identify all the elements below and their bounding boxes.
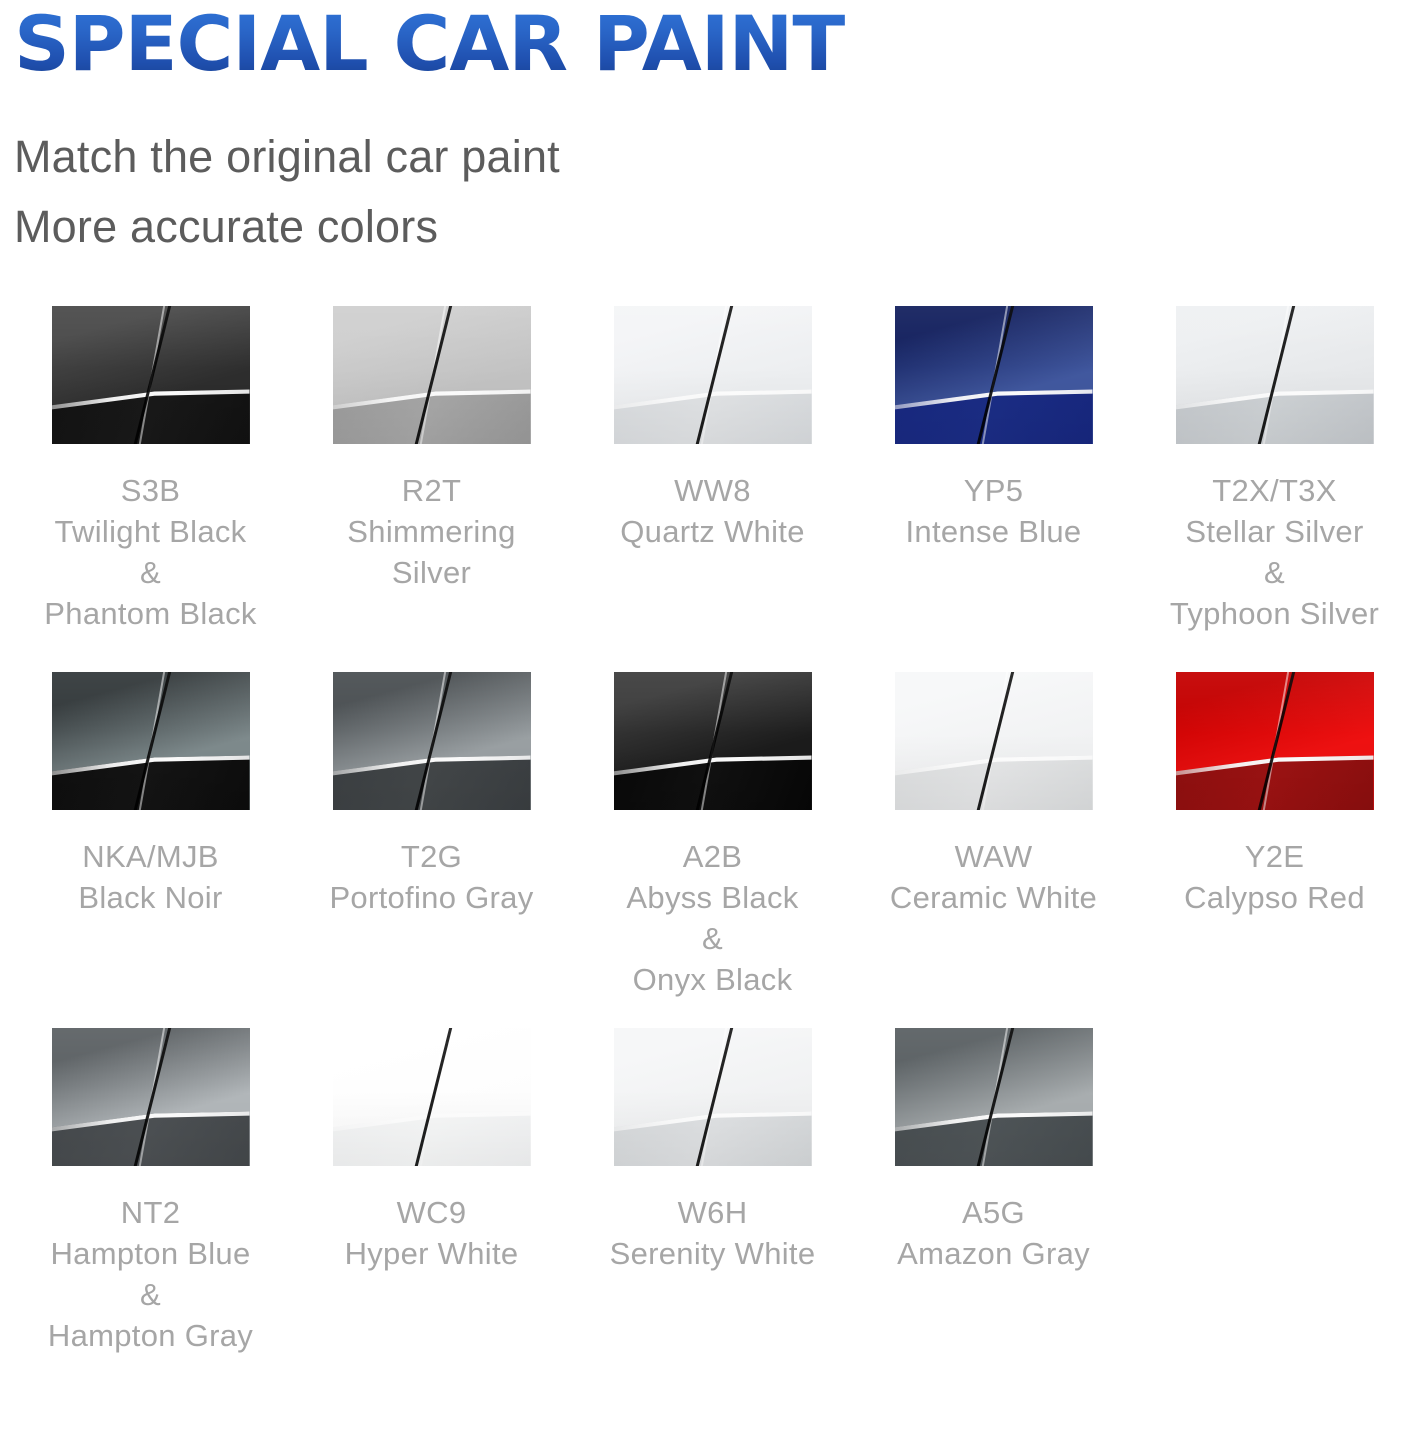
paint-swatch-card[interactable]: T2X/T3XStellar Silver&Typhoon Silver	[1134, 306, 1407, 634]
paint-name: Hampton Blue	[10, 1233, 291, 1274]
paint-swatch-labels: R2TShimmeringSilver	[291, 470, 572, 593]
subtitle-line-2: More accurate colors	[14, 192, 1407, 262]
paint-name-separator: &	[10, 552, 291, 593]
car-panel-swatch-image	[52, 672, 250, 810]
car-panel-swatch-image	[895, 306, 1093, 444]
paint-swatch-card[interactable]: NKA/MJBBlack Noir	[10, 672, 291, 1000]
paint-code: Y2E	[1134, 836, 1407, 877]
paint-swatch-card[interactable]: A5GAmazon Gray	[853, 1028, 1134, 1356]
panel-gap-line	[52, 1028, 250, 1166]
paint-name: Shimmering	[291, 511, 572, 552]
paint-code: W6H	[572, 1192, 853, 1233]
paint-code: R2T	[291, 470, 572, 511]
paint-name-separator: &	[1134, 552, 1407, 593]
car-panel-swatch-image	[1176, 306, 1374, 444]
paint-swatch-grid: S3BTwilight Black&Phantom BlackR2TShimme…	[0, 306, 1407, 1356]
panel-gap-line	[1176, 306, 1374, 444]
paint-swatch-labels: A2BAbyss Black&Onyx Black	[572, 836, 853, 1000]
paint-name: Abyss Black	[572, 877, 853, 918]
paint-code: S3B	[10, 470, 291, 511]
paint-swatch-labels: WAWCeramic White	[853, 836, 1134, 918]
panel-gap-line	[895, 306, 1093, 444]
paint-swatch-labels: S3BTwilight Black&Phantom Black	[10, 470, 291, 634]
paint-swatch-card[interactable]: WW8Quartz White	[572, 306, 853, 634]
paint-name-alt: Onyx Black	[572, 959, 853, 1000]
paint-name-alt: Hampton Gray	[10, 1315, 291, 1356]
panel-gap-line	[614, 1028, 812, 1166]
car-panel-swatch-image	[895, 1028, 1093, 1166]
swatch-row: S3BTwilight Black&Phantom BlackR2TShimme…	[10, 306, 1397, 634]
paint-swatch-labels: A5GAmazon Gray	[853, 1192, 1134, 1274]
paint-code: NKA/MJB	[10, 836, 291, 877]
paint-name: Quartz White	[572, 511, 853, 552]
panel-gap-line	[52, 672, 250, 810]
paint-code: WAW	[853, 836, 1134, 877]
panel-gap-line	[52, 306, 250, 444]
swatch-row: NKA/MJBBlack NoirT2GPortofino GrayA2BAby…	[10, 672, 1397, 1000]
car-panel-swatch-image	[52, 306, 250, 444]
panel-gap-line	[333, 306, 531, 444]
paint-code: YP5	[853, 470, 1134, 511]
paint-name: Stellar Silver	[1134, 511, 1407, 552]
paint-name: Twilight Black	[10, 511, 291, 552]
paint-name: Hyper White	[291, 1233, 572, 1274]
car-panel-swatch-image	[52, 1028, 250, 1166]
paint-swatch-card[interactable]: T2GPortofino Gray	[291, 672, 572, 1000]
swatch-row: NT2Hampton Blue&Hampton GrayWC9Hyper Whi…	[10, 1028, 1397, 1356]
paint-swatch-card[interactable]: Y2ECalypso Red	[1134, 672, 1407, 1000]
car-panel-swatch-image	[895, 672, 1093, 810]
car-panel-swatch-image	[614, 306, 812, 444]
panel-gap-line	[1176, 672, 1374, 810]
paint-name: Serenity White	[572, 1233, 853, 1274]
paint-code: NT2	[10, 1192, 291, 1233]
paint-swatch-labels: T2X/T3XStellar Silver&Typhoon Silver	[1134, 470, 1407, 634]
paint-swatch-labels: Y2ECalypso Red	[1134, 836, 1407, 918]
paint-code: WW8	[572, 470, 853, 511]
car-panel-swatch-image	[333, 1028, 531, 1166]
paint-code: WC9	[291, 1192, 572, 1233]
paint-swatch-card[interactable]: WC9Hyper White	[291, 1028, 572, 1356]
paint-name: Portofino Gray	[291, 877, 572, 918]
paint-name-alt: Silver	[291, 552, 572, 593]
panel-gap-line	[895, 1028, 1093, 1166]
subtitle-line-1: Match the original car paint	[14, 122, 1407, 192]
paint-swatch-card[interactable]: WAWCeramic White	[853, 672, 1134, 1000]
paint-swatch-card[interactable]: NT2Hampton Blue&Hampton Gray	[10, 1028, 291, 1356]
paint-swatch-card[interactable]: S3BTwilight Black&Phantom Black	[10, 306, 291, 634]
paint-name: Black Noir	[10, 877, 291, 918]
panel-gap-line	[333, 1028, 531, 1166]
paint-name: Intense Blue	[853, 511, 1134, 552]
paint-swatch-card[interactable]: R2TShimmeringSilver	[291, 306, 572, 634]
paint-swatch-labels: YP5Intense Blue	[853, 470, 1134, 552]
paint-code: T2G	[291, 836, 572, 877]
paint-code: A2B	[572, 836, 853, 877]
car-panel-swatch-image	[333, 672, 531, 810]
paint-swatch-card[interactable]: A2BAbyss Black&Onyx Black	[572, 672, 853, 1000]
paint-swatch-card[interactable]: YP5Intense Blue	[853, 306, 1134, 634]
paint-name: Calypso Red	[1134, 877, 1407, 918]
paint-swatch-labels: NKA/MJBBlack Noir	[10, 836, 291, 918]
car-panel-swatch-image	[614, 672, 812, 810]
paint-swatch-card[interactable]: W6HSerenity White	[572, 1028, 853, 1356]
panel-gap-line	[333, 672, 531, 810]
paint-name: Amazon Gray	[853, 1233, 1134, 1274]
car-panel-swatch-image	[614, 1028, 812, 1166]
paint-name-separator: &	[10, 1274, 291, 1315]
car-panel-swatch-image	[333, 306, 531, 444]
paint-code: A5G	[853, 1192, 1134, 1233]
paint-swatch-labels: WC9Hyper White	[291, 1192, 572, 1274]
page-subtitle: Match the original car paint More accura…	[14, 122, 1407, 262]
paint-name-alt: Typhoon Silver	[1134, 593, 1407, 634]
page-header: SPECIAL CAR PAINT Match the original car…	[0, 0, 1407, 262]
panel-gap-line	[895, 672, 1093, 810]
panel-gap-line	[614, 306, 812, 444]
paint-swatch-labels: WW8Quartz White	[572, 470, 853, 552]
paint-code: T2X/T3X	[1134, 470, 1407, 511]
paint-name: Ceramic White	[853, 877, 1134, 918]
panel-gap-line	[614, 672, 812, 810]
paint-swatch-labels: NT2Hampton Blue&Hampton Gray	[10, 1192, 291, 1356]
paint-swatch-labels: W6HSerenity White	[572, 1192, 853, 1274]
paint-name-alt: Phantom Black	[10, 593, 291, 634]
paint-swatch-labels: T2GPortofino Gray	[291, 836, 572, 918]
page-title: SPECIAL CAR PAINT	[14, 2, 1407, 86]
paint-name-separator: &	[572, 918, 853, 959]
car-panel-swatch-image	[1176, 672, 1374, 810]
